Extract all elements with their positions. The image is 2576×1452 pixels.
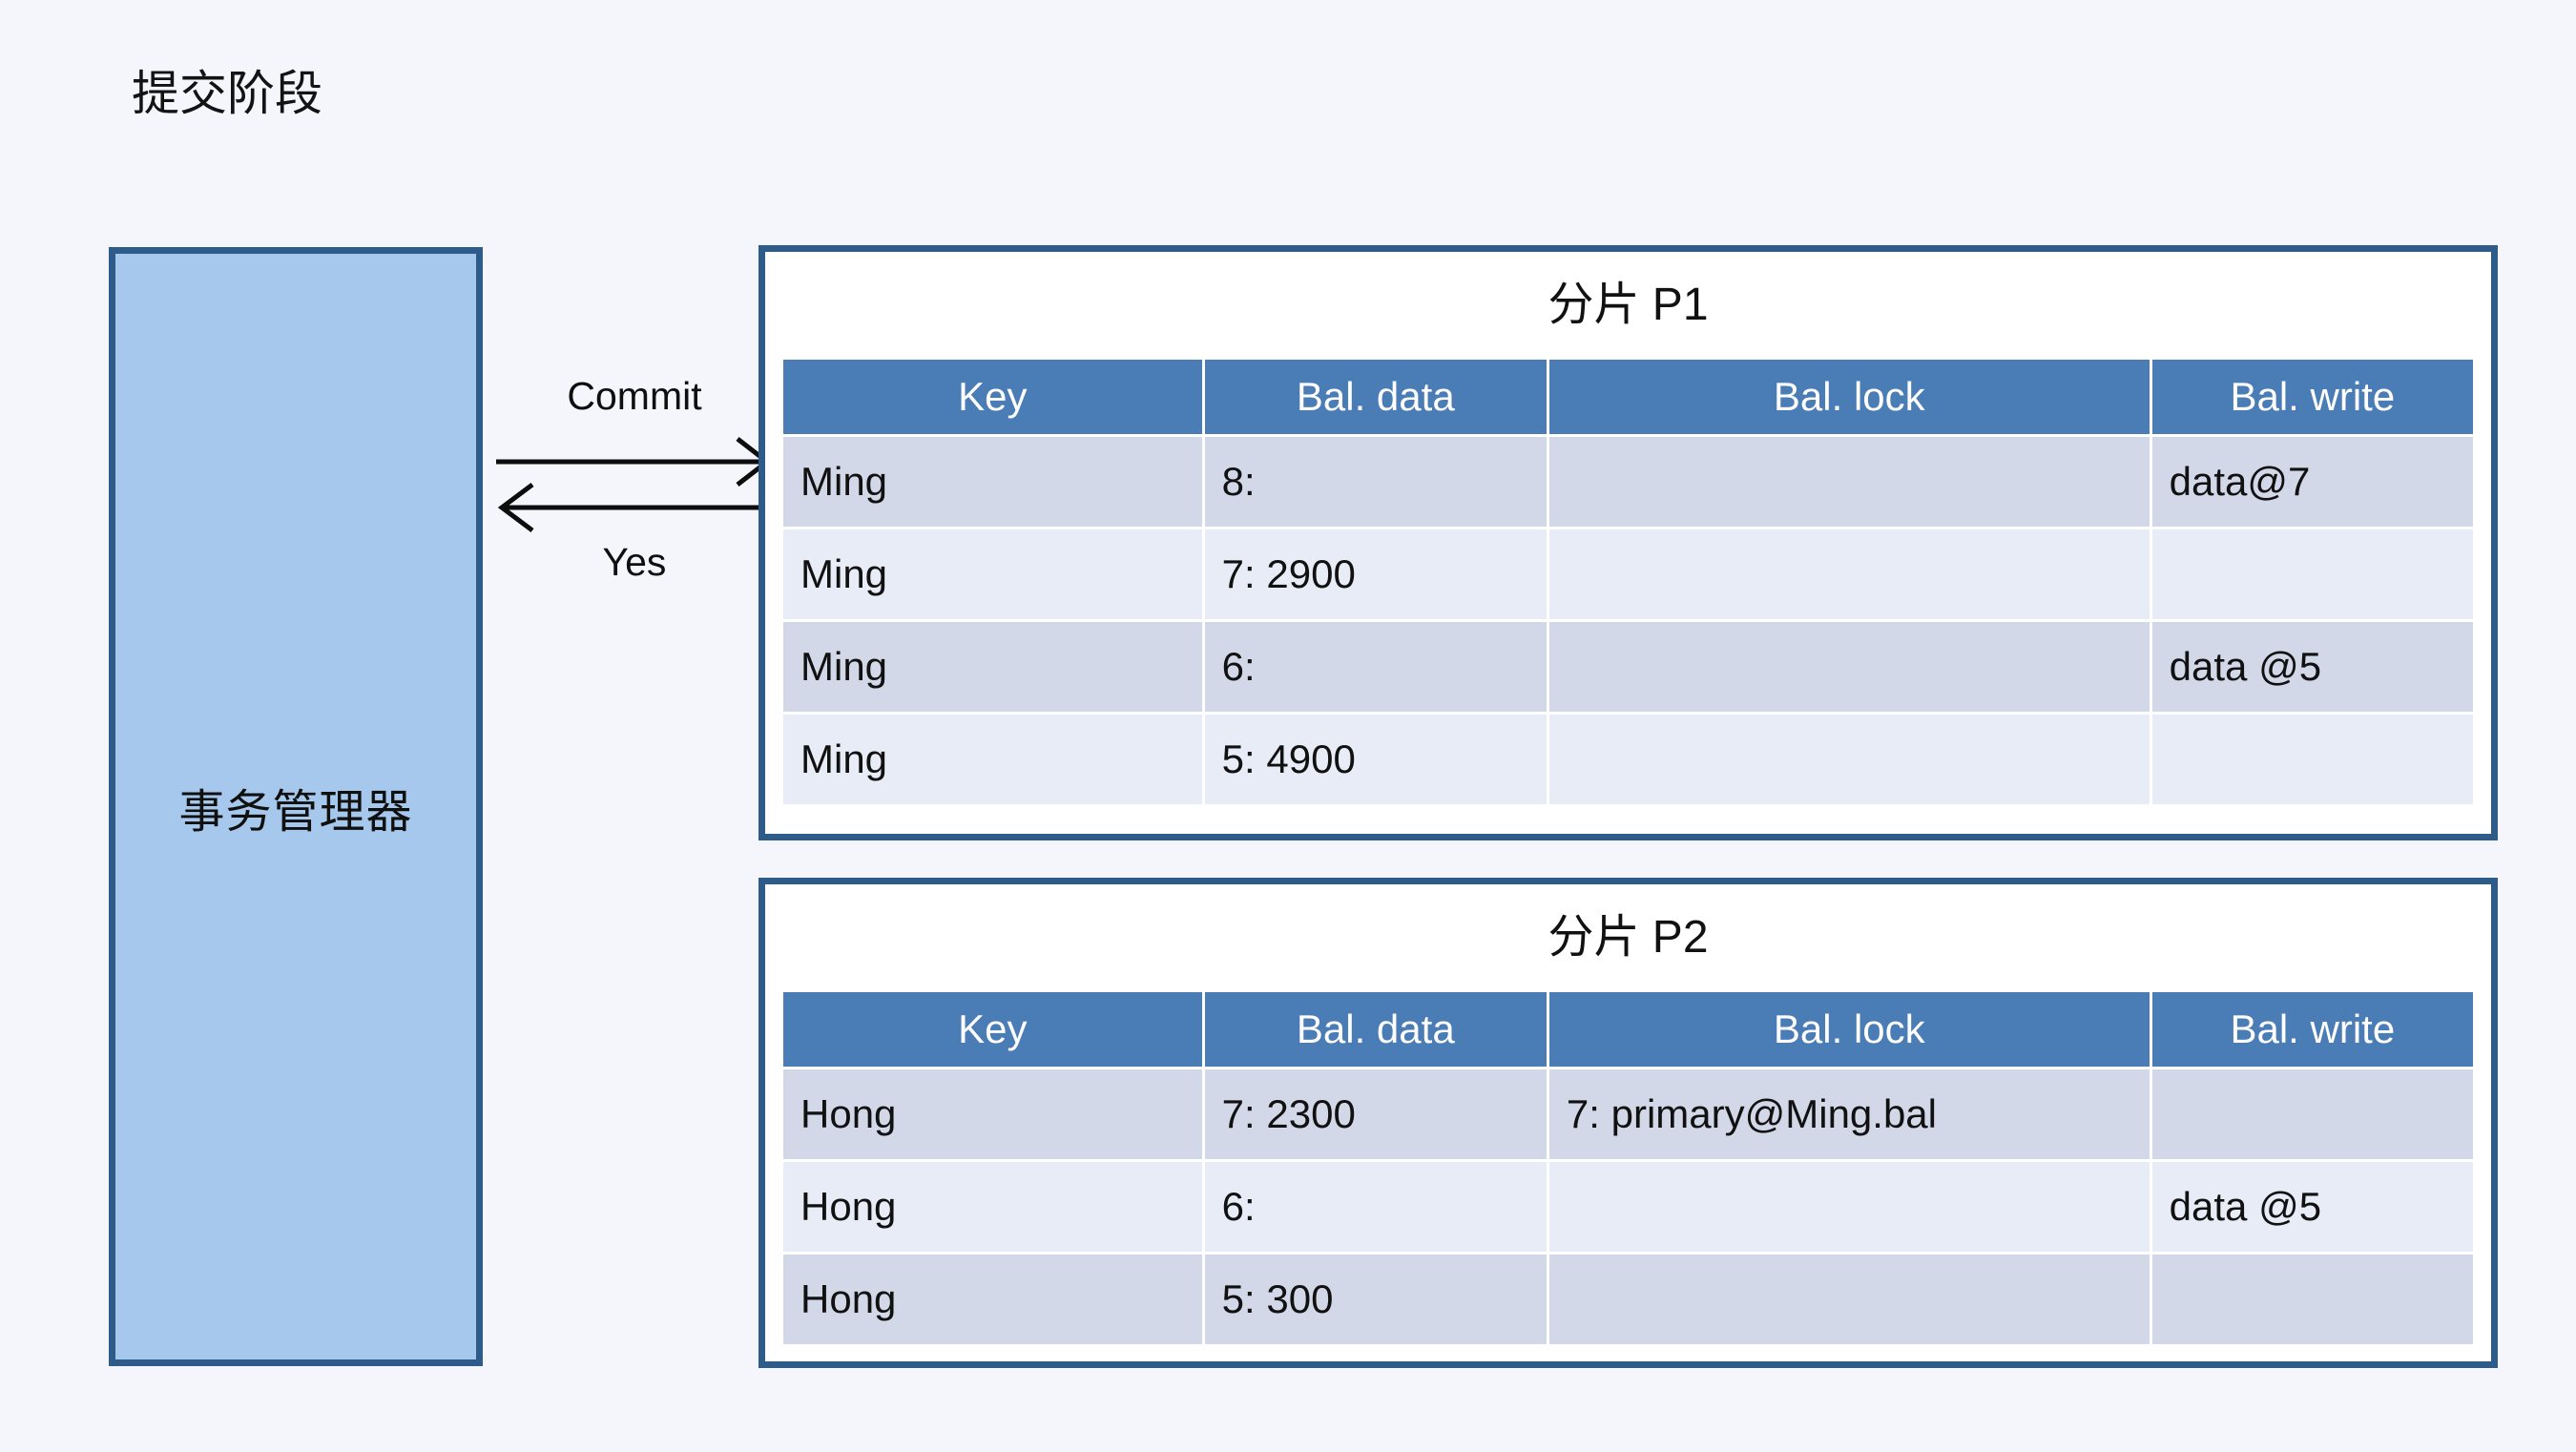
cell-bal-write	[2152, 529, 2473, 619]
cell-bal-data: 7: 2900	[1205, 529, 1547, 619]
message-arrows-group: Commit Yes	[496, 363, 773, 601]
table-row: Ming 8: data@7	[783, 437, 2473, 527]
cell-bal-data: 5: 300	[1205, 1255, 1547, 1344]
cell-bal-lock	[1549, 1162, 2150, 1252]
column-header-bal-write: Bal. write	[2152, 992, 2473, 1067]
column-header-key: Key	[783, 992, 1202, 1067]
cell-bal-write: data @5	[2152, 1162, 2473, 1252]
table-row: Hong 5: 300	[783, 1255, 2473, 1344]
cell-key: Hong	[783, 1255, 1202, 1344]
table-row: Ming 7: 2900	[783, 529, 2473, 619]
table-header-row: Key Bal. data Bal. lock Bal. write	[783, 992, 2473, 1067]
column-header-bal-write: Bal. write	[2152, 360, 2473, 434]
table-header-row: Key Bal. data Bal. lock Bal. write	[783, 360, 2473, 434]
cell-bal-write	[2152, 1255, 2473, 1344]
cell-key: Hong	[783, 1162, 1202, 1252]
cell-bal-data: 6:	[1205, 1162, 1547, 1252]
cell-bal-write: data @5	[2152, 622, 2473, 712]
cell-bal-lock	[1549, 622, 2150, 712]
shard-table-p1: Key Bal. data Bal. lock Bal. write Ming …	[780, 357, 2476, 807]
table-row: Ming 6: data @5	[783, 622, 2473, 712]
cell-bal-lock	[1549, 715, 2150, 804]
cell-bal-write	[2152, 1069, 2473, 1159]
cell-bal-data: 6:	[1205, 622, 1547, 712]
cell-bal-write: data@7	[2152, 437, 2473, 527]
table-row: Hong 6: data @5	[783, 1162, 2473, 1252]
cell-bal-lock	[1549, 529, 2150, 619]
cell-bal-lock	[1549, 1255, 2150, 1344]
column-header-key: Key	[783, 360, 1202, 434]
column-header-bal-lock: Bal. lock	[1549, 992, 2150, 1067]
transaction-manager-box: 事务管理器	[109, 247, 483, 1366]
cell-bal-write	[2152, 715, 2473, 804]
table-row: Hong 7: 2300 7: primary@Ming.bal	[783, 1069, 2473, 1159]
cell-bal-lock: 7: primary@Ming.bal	[1549, 1069, 2150, 1159]
cell-bal-data: 5: 4900	[1205, 715, 1547, 804]
shard-title-p1: 分片 P1	[780, 252, 2476, 357]
commit-arrow-icon	[496, 439, 767, 485]
shard-table-p2: Key Bal. data Bal. lock Bal. write Hong …	[780, 989, 2476, 1347]
page-title: 提交阶段	[132, 65, 322, 122]
table-row: Ming 5: 4900	[783, 715, 2473, 804]
cell-key: Hong	[783, 1069, 1202, 1159]
cell-key: Ming	[783, 715, 1202, 804]
column-header-bal-data: Bal. data	[1205, 360, 1547, 434]
shard-panel-p2: 分片 P2 Key Bal. data Bal. lock Bal. write…	[758, 878, 2498, 1368]
yes-arrow-icon	[502, 485, 773, 530]
cell-bal-data: 7: 2300	[1205, 1069, 1547, 1159]
column-header-bal-lock: Bal. lock	[1549, 360, 2150, 434]
cell-key: Ming	[783, 437, 1202, 527]
transaction-manager-label: 事务管理器	[178, 774, 412, 840]
cell-bal-lock	[1549, 437, 2150, 527]
cell-key: Ming	[783, 529, 1202, 619]
cell-key: Ming	[783, 622, 1202, 712]
yes-arrow-label: Yes	[496, 540, 773, 585]
cell-bal-data: 8:	[1205, 437, 1547, 527]
shard-title-p2: 分片 P2	[780, 884, 2476, 989]
shard-panel-p1: 分片 P1 Key Bal. data Bal. lock Bal. write…	[758, 245, 2498, 840]
column-header-bal-data: Bal. data	[1205, 992, 1547, 1067]
